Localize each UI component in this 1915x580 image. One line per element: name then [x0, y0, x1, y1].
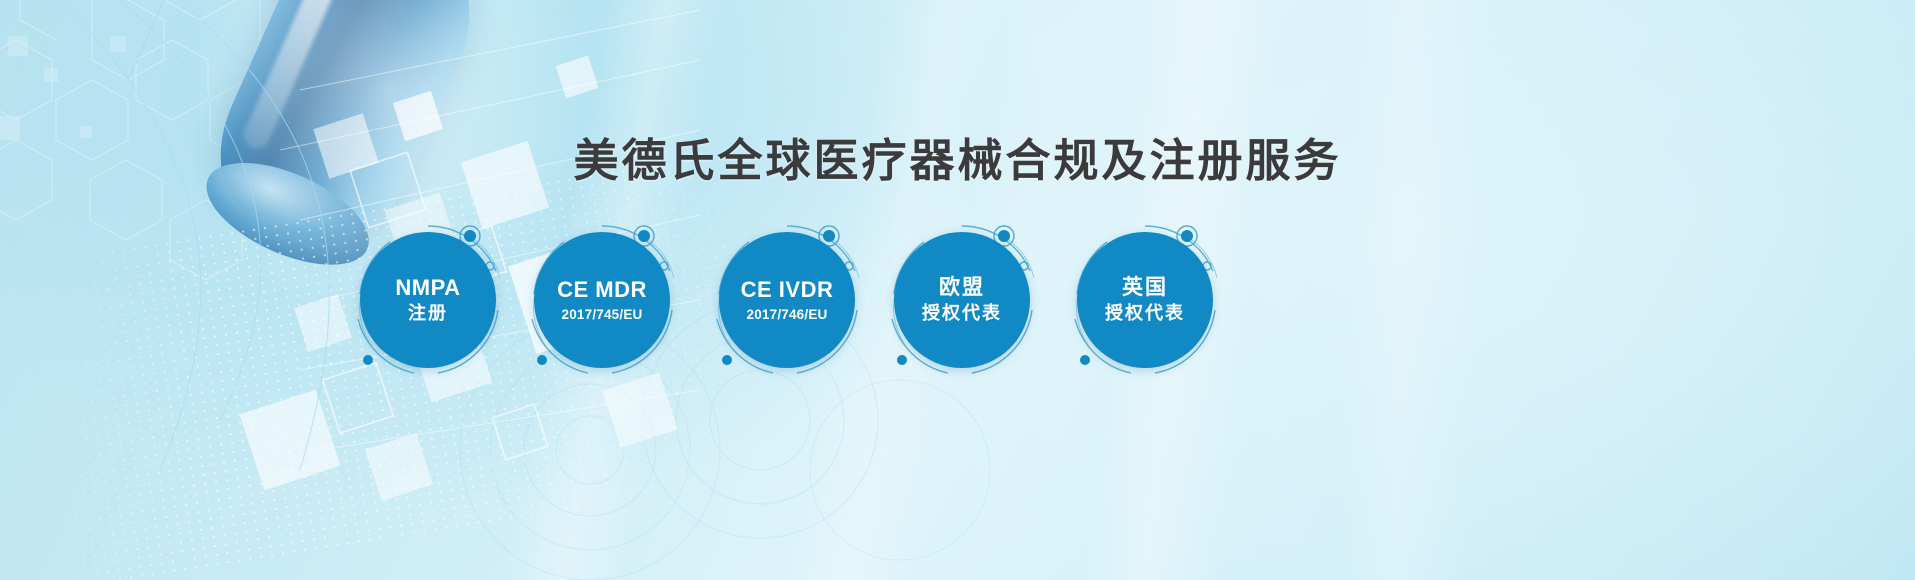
- badge-disc: CE MDR 2017/745/EU: [534, 232, 670, 368]
- badge-line1: CE IVDR: [741, 278, 834, 303]
- badge-uk-ar[interactable]: 英国 授权代表: [1077, 232, 1213, 368]
- badge-nmpa[interactable]: NMPA 注册: [360, 232, 496, 368]
- badge-line1: NMPA: [395, 276, 460, 301]
- page-title: 美德氏全球医疗器械合规及注册服务: [0, 124, 1915, 189]
- badge-line2: 授权代表: [1105, 303, 1185, 324]
- badge-line2: 注册: [408, 303, 448, 324]
- badge-line1: 英国: [1122, 276, 1168, 300]
- badge-disc: CE IVDR 2017/746/EU: [719, 232, 855, 368]
- badge-row: NMPA 注册: [0, 232, 1915, 382]
- badge-line1: 欧盟: [939, 276, 985, 300]
- banner-root: 美德氏全球医疗器械合规及注册服务 NMP: [0, 0, 1915, 580]
- badge-disc: 欧盟 授权代表: [894, 232, 1030, 368]
- badge-line2: 2017/746/EU: [746, 307, 827, 323]
- badge-ce-mdr[interactable]: CE MDR 2017/745/EU: [534, 232, 670, 368]
- badge-line2: 授权代表: [922, 303, 1002, 324]
- badge-eu-ar[interactable]: 欧盟 授权代表: [894, 232, 1030, 368]
- badge-line2: 2017/745/EU: [561, 307, 642, 323]
- badge-ce-ivdr[interactable]: CE IVDR 2017/746/EU: [719, 232, 855, 368]
- badge-disc: 英国 授权代表: [1077, 232, 1213, 368]
- badge-line1: CE MDR: [557, 278, 647, 303]
- badge-disc: NMPA 注册: [360, 232, 496, 368]
